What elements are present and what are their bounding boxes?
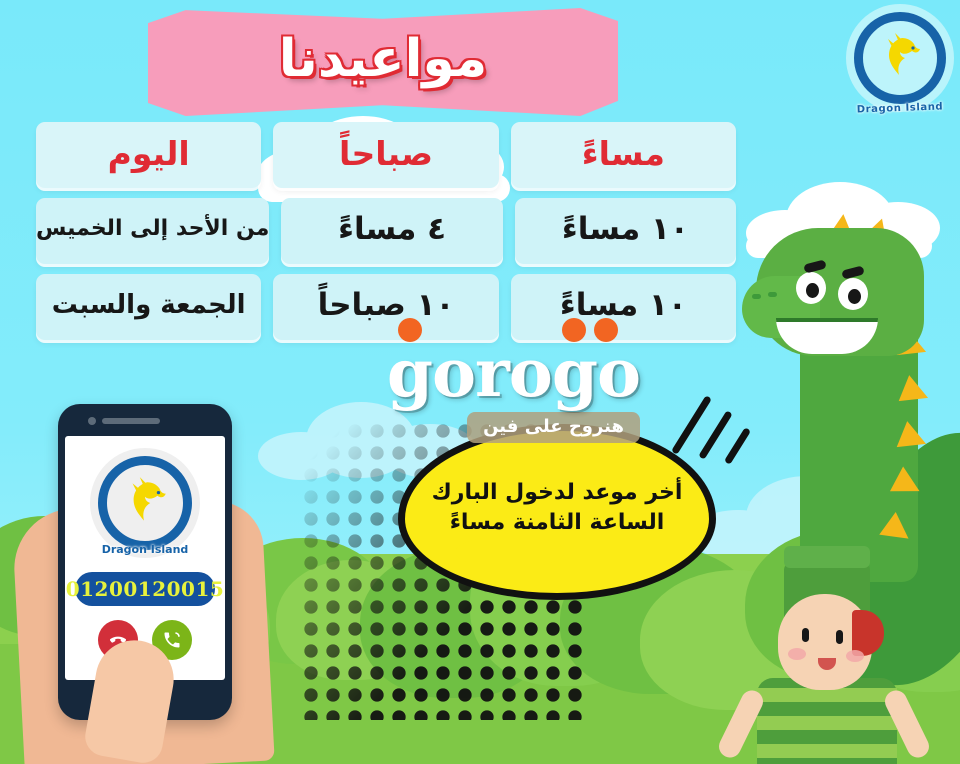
boy-cheek bbox=[846, 650, 864, 662]
watermark-dot-icon bbox=[398, 318, 422, 342]
row1-evening-value: ١٠ مساءً bbox=[562, 214, 689, 249]
dragon-logo-icon bbox=[116, 474, 174, 532]
row2-evening: ١٠ مساءً bbox=[511, 274, 736, 340]
header-evening: مساءً bbox=[511, 122, 736, 188]
row1-morning-value: ٤ مساءً bbox=[338, 214, 446, 249]
watermark-text: gorogo bbox=[387, 340, 640, 406]
title-ribbon: مواعيدنا bbox=[148, 8, 618, 116]
phone-logo-ring bbox=[98, 456, 192, 550]
boy-hat-band bbox=[784, 546, 870, 568]
watermark-dot-icon bbox=[594, 318, 618, 342]
page-title: مواعيدنا bbox=[148, 8, 618, 116]
phone-number: 01200120015 bbox=[75, 572, 215, 606]
table-row: ١٠ مساءً ١٠ صباحاً الجمعة والسبت bbox=[36, 274, 736, 340]
header-morning: صباحاً bbox=[273, 122, 498, 188]
phone-camera-icon bbox=[88, 417, 96, 425]
row1-day: من الأحد إلى الخميس bbox=[36, 198, 269, 264]
bubble-tail-cover bbox=[455, 536, 565, 568]
boy-shirt bbox=[757, 678, 897, 764]
phone-logo: Dragon Island bbox=[90, 448, 200, 558]
boy-cheek bbox=[788, 648, 806, 660]
watermark-dot-icon bbox=[562, 318, 586, 342]
table-row: ١٠ مساءً ٤ مساءً من الأحد إلى الخميس bbox=[36, 198, 736, 264]
notice-line-2: الساعة الثامنة مساءً bbox=[450, 508, 665, 538]
row2-morning: ١٠ صباحاً bbox=[273, 274, 498, 340]
dragon-logo-icon bbox=[872, 30, 928, 86]
row2-day-value: الجمعة والسبت bbox=[52, 292, 246, 322]
boy-eye bbox=[802, 628, 809, 642]
watermark: gorogo هنروح على فين bbox=[300, 340, 640, 443]
watermark-label: gorogo bbox=[387, 334, 640, 412]
watermark-tagline: هنروح على فين bbox=[467, 412, 640, 443]
row2-day: الجمعة والسبت bbox=[36, 274, 261, 340]
logo-ring bbox=[854, 12, 946, 104]
row1-day-value: من الأحد إلى الخميس bbox=[36, 218, 269, 244]
notice-line-1: أخر موعد لدخول البارك bbox=[432, 478, 683, 508]
header-morning-label: صباحاً bbox=[339, 137, 433, 174]
phone-logo-label: Dragon Island bbox=[90, 543, 200, 556]
row1-morning: ٤ مساءً bbox=[281, 198, 502, 264]
boy-eye bbox=[836, 630, 843, 644]
dragon-nostril bbox=[752, 294, 761, 299]
header-evening-label: مساءً bbox=[582, 137, 665, 174]
row1-evening: ١٠ مساءً bbox=[515, 198, 736, 264]
dragon-pupil bbox=[848, 289, 861, 304]
dragon-island-logo: Dragon Island bbox=[846, 4, 954, 112]
dragon-pupil bbox=[806, 283, 819, 298]
dragon-nostril bbox=[768, 292, 777, 297]
promo-poster: مواعيدنا Dragon Island مساءً صباحاً اليو… bbox=[0, 0, 960, 764]
phone-speaker bbox=[102, 418, 160, 424]
row2-morning-value: ١٠ صباحاً bbox=[318, 290, 455, 325]
table-header-row: مساءً صباحاً اليوم bbox=[36, 122, 736, 188]
header-day-label: اليوم bbox=[108, 137, 190, 174]
schedule-table: مساءً صباحاً اليوم ١٠ مساءً ٤ مساءً من ا… bbox=[36, 122, 736, 350]
header-day: اليوم bbox=[36, 122, 261, 188]
